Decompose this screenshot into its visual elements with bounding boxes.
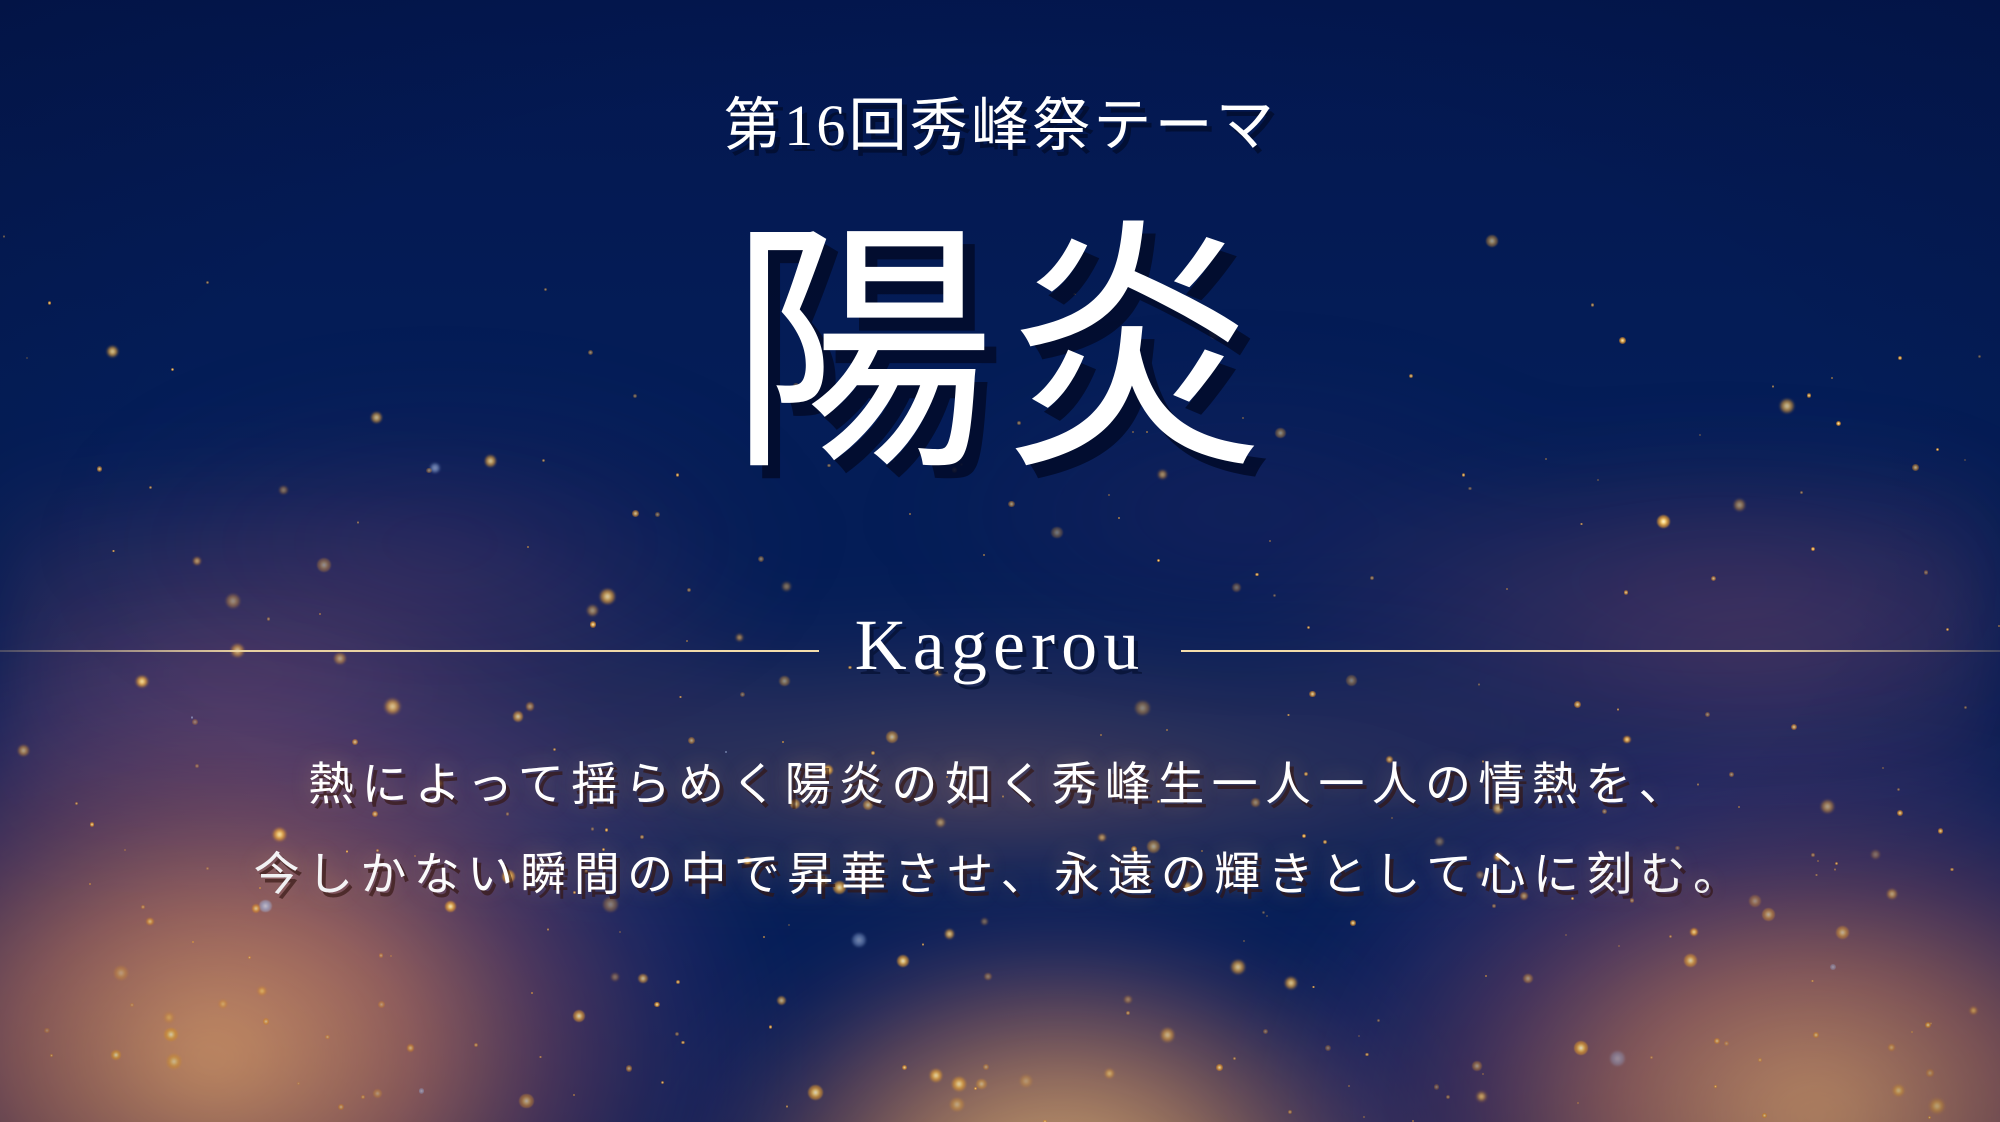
theme-description: 熱によって揺らめく陽炎の如く秀峰生一人一人の情熱を、 今しかない瞬間の中で昇華さ… [0, 740, 2000, 919]
theme-main-title: 陽炎 [0, 222, 2000, 488]
romaji-divider-row: Kagerou [0, 615, 2000, 687]
theme-romaji-subtitle: Kagerou [819, 609, 1182, 681]
description-line-1: 熱によって揺らめく陽炎の如く秀峰生一人一人の情熱を、 [0, 740, 2000, 830]
divider-rule-left [0, 650, 819, 652]
theme-poster: 第16回秀峰祭テーマ 陽炎 Kagerou 熱によって揺らめく陽炎の如く秀峰生一… [0, 0, 2000, 1122]
description-line-2: 今しかない瞬間の中で昇華させ、永遠の輝きとして心に刻む。 [0, 830, 2000, 920]
poster-content: 第16回秀峰祭テーマ 陽炎 Kagerou 熱によって揺らめく陽炎の如く秀峰生一… [0, 0, 2000, 1122]
divider-rule-right [1181, 650, 2000, 652]
event-kicker-title: 第16回秀峰祭テーマ [0, 97, 2000, 155]
